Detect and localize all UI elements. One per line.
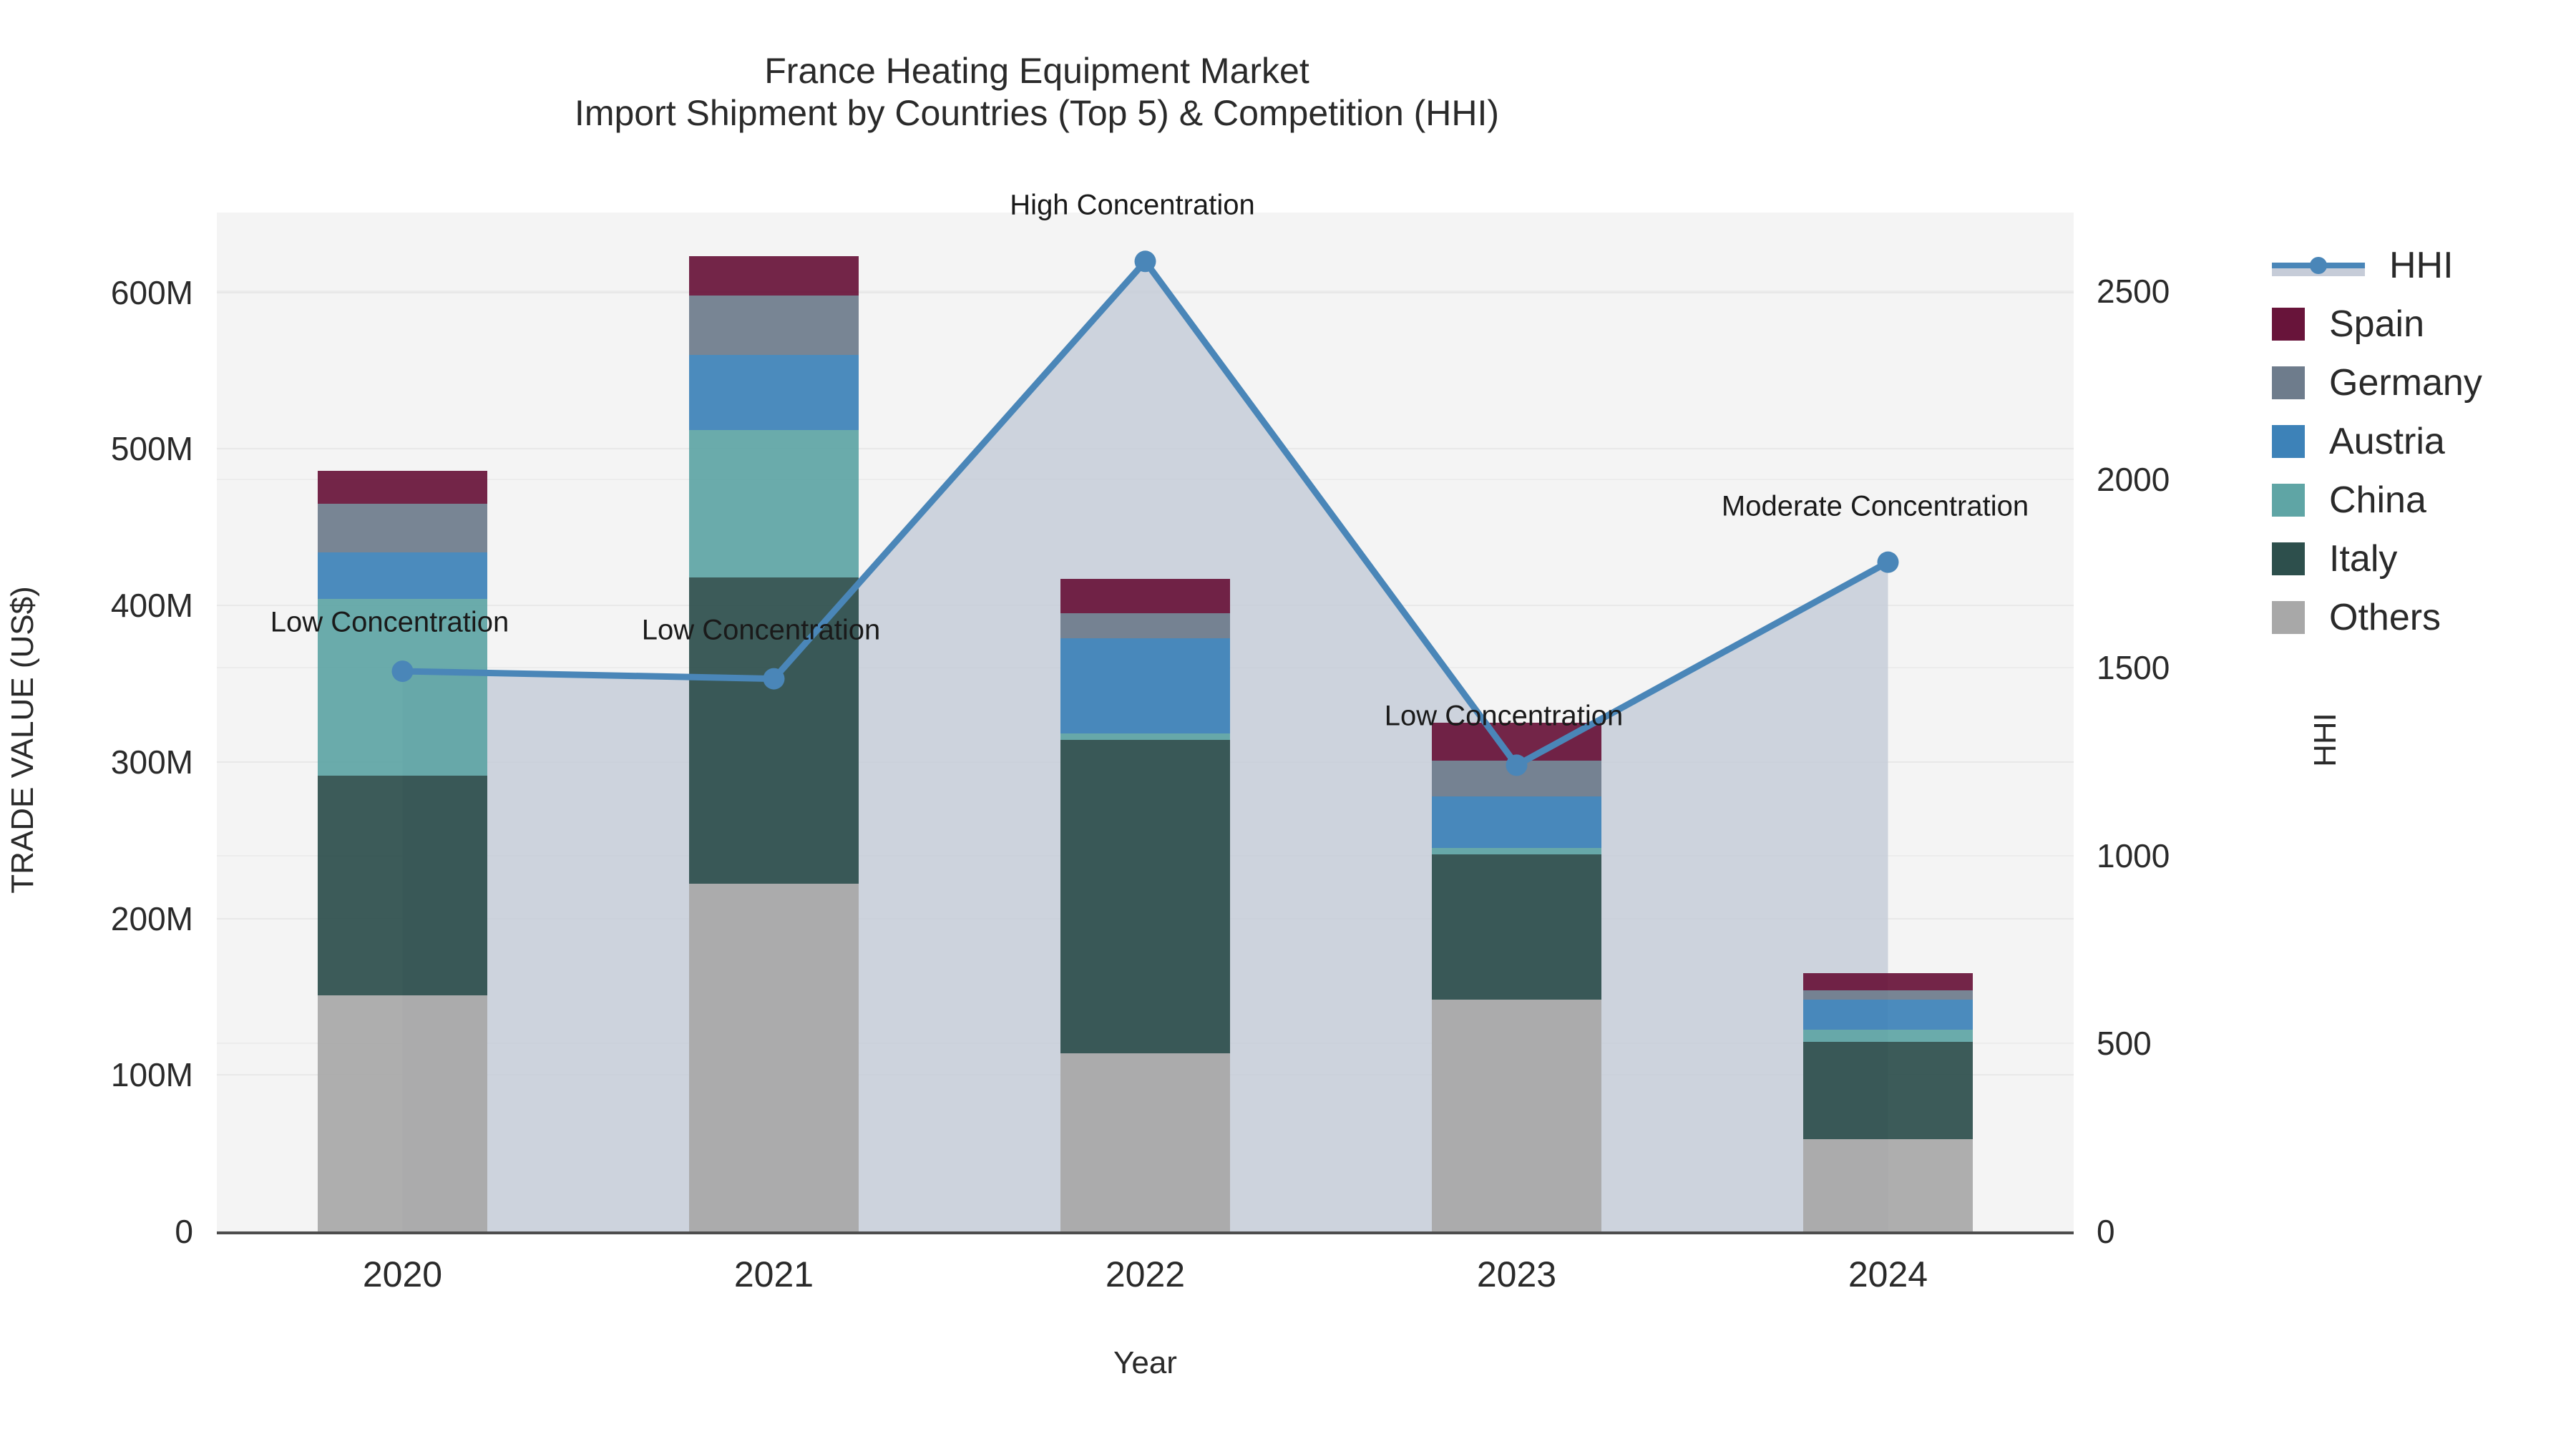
legend-line-icon (2272, 249, 2365, 282)
hhi-marker-2024[interactable] (1878, 552, 1899, 573)
annotation-2023: Low Concentration (1385, 701, 1624, 733)
legend-swatch-icon (2272, 484, 2305, 517)
legend-label: China (2329, 482, 2426, 519)
legend-swatch-icon (2272, 542, 2305, 575)
hhi-marker-2023[interactable] (1506, 754, 1528, 776)
legend-swatch-icon (2272, 308, 2305, 341)
hhi-marker-2020[interactable] (392, 660, 414, 682)
legend-item-germany[interactable]: Germany (2272, 353, 2572, 412)
y-tick-left-400M: 400M (14, 586, 193, 625)
legend-label: Germany (2329, 364, 2482, 401)
x-tick-2020: 2020 (296, 1254, 510, 1295)
legend-item-austria[interactable]: Austria (2272, 412, 2572, 471)
chart-title: France Heating Equipment Market (0, 50, 2074, 92)
annotation-2022: High Concentration (1010, 190, 1254, 222)
y-tick-right-0: 0 (2097, 1212, 2115, 1251)
hhi-marker-2022[interactable] (1135, 250, 1156, 272)
y-tick-right-1500: 1500 (2097, 648, 2170, 687)
legend-label: Spain (2329, 306, 2424, 343)
legend: HHISpainGermanyAustriaChinaItalyOthers (2272, 236, 2572, 647)
chart-title-block: France Heating Equipment Market Import S… (0, 50, 2074, 135)
x-tick-2024: 2024 (1781, 1254, 1996, 1295)
y-axis-left-label: TRADE VALUE (US$) (5, 540, 41, 940)
chart-figure: France Heating Equipment Market Import S… (0, 0, 2576, 1449)
chart-subtitle: Import Shipment by Countries (Top 5) & C… (0, 92, 2074, 135)
x-tick-2022: 2022 (1038, 1254, 1253, 1295)
legend-item-italy[interactable]: Italy (2272, 530, 2572, 588)
y-tick-right-500: 500 (2097, 1024, 2152, 1063)
y-tick-left-300M: 300M (14, 743, 193, 781)
legend-item-china[interactable]: China (2272, 471, 2572, 530)
legend-label: Others (2329, 599, 2441, 636)
hhi-marker-2021[interactable] (763, 668, 785, 690)
legend-label: Italy (2329, 540, 2397, 577)
legend-item-others[interactable]: Others (2272, 588, 2572, 647)
legend-label: HHI (2389, 247, 2454, 284)
y-tick-left-600M: 600M (14, 273, 193, 312)
y-tick-right-2000: 2000 (2097, 460, 2170, 499)
y-tick-left-500M: 500M (14, 429, 193, 468)
y-tick-left-100M: 100M (14, 1055, 193, 1094)
x-axis-label: Year (217, 1345, 2074, 1381)
x-tick-2023: 2023 (1410, 1254, 1624, 1295)
annotation-2020: Low Concentration (270, 607, 509, 639)
plot-inner (217, 213, 2074, 1231)
legend-item-hhi[interactable]: HHI (2272, 236, 2572, 295)
plot-area (217, 213, 2074, 1231)
x-tick-2021: 2021 (667, 1254, 882, 1295)
y-tick-left-0: 0 (14, 1212, 193, 1251)
legend-item-spain[interactable]: Spain (2272, 295, 2572, 353)
legend-label: Austria (2329, 423, 2445, 460)
x-axis-spine (217, 1231, 2074, 1234)
legend-swatch-icon (2272, 425, 2305, 458)
hhi-line[interactable] (217, 213, 2074, 1231)
y-tick-right-2500: 2500 (2097, 272, 2170, 311)
y-tick-left-200M: 200M (14, 899, 193, 938)
annotation-2021: Low Concentration (642, 614, 881, 646)
legend-swatch-icon (2272, 601, 2305, 634)
annotation-2024: Moderate Concentration (1722, 490, 2029, 522)
legend-swatch-icon (2272, 366, 2305, 399)
y-tick-right-1000: 1000 (2097, 836, 2170, 875)
